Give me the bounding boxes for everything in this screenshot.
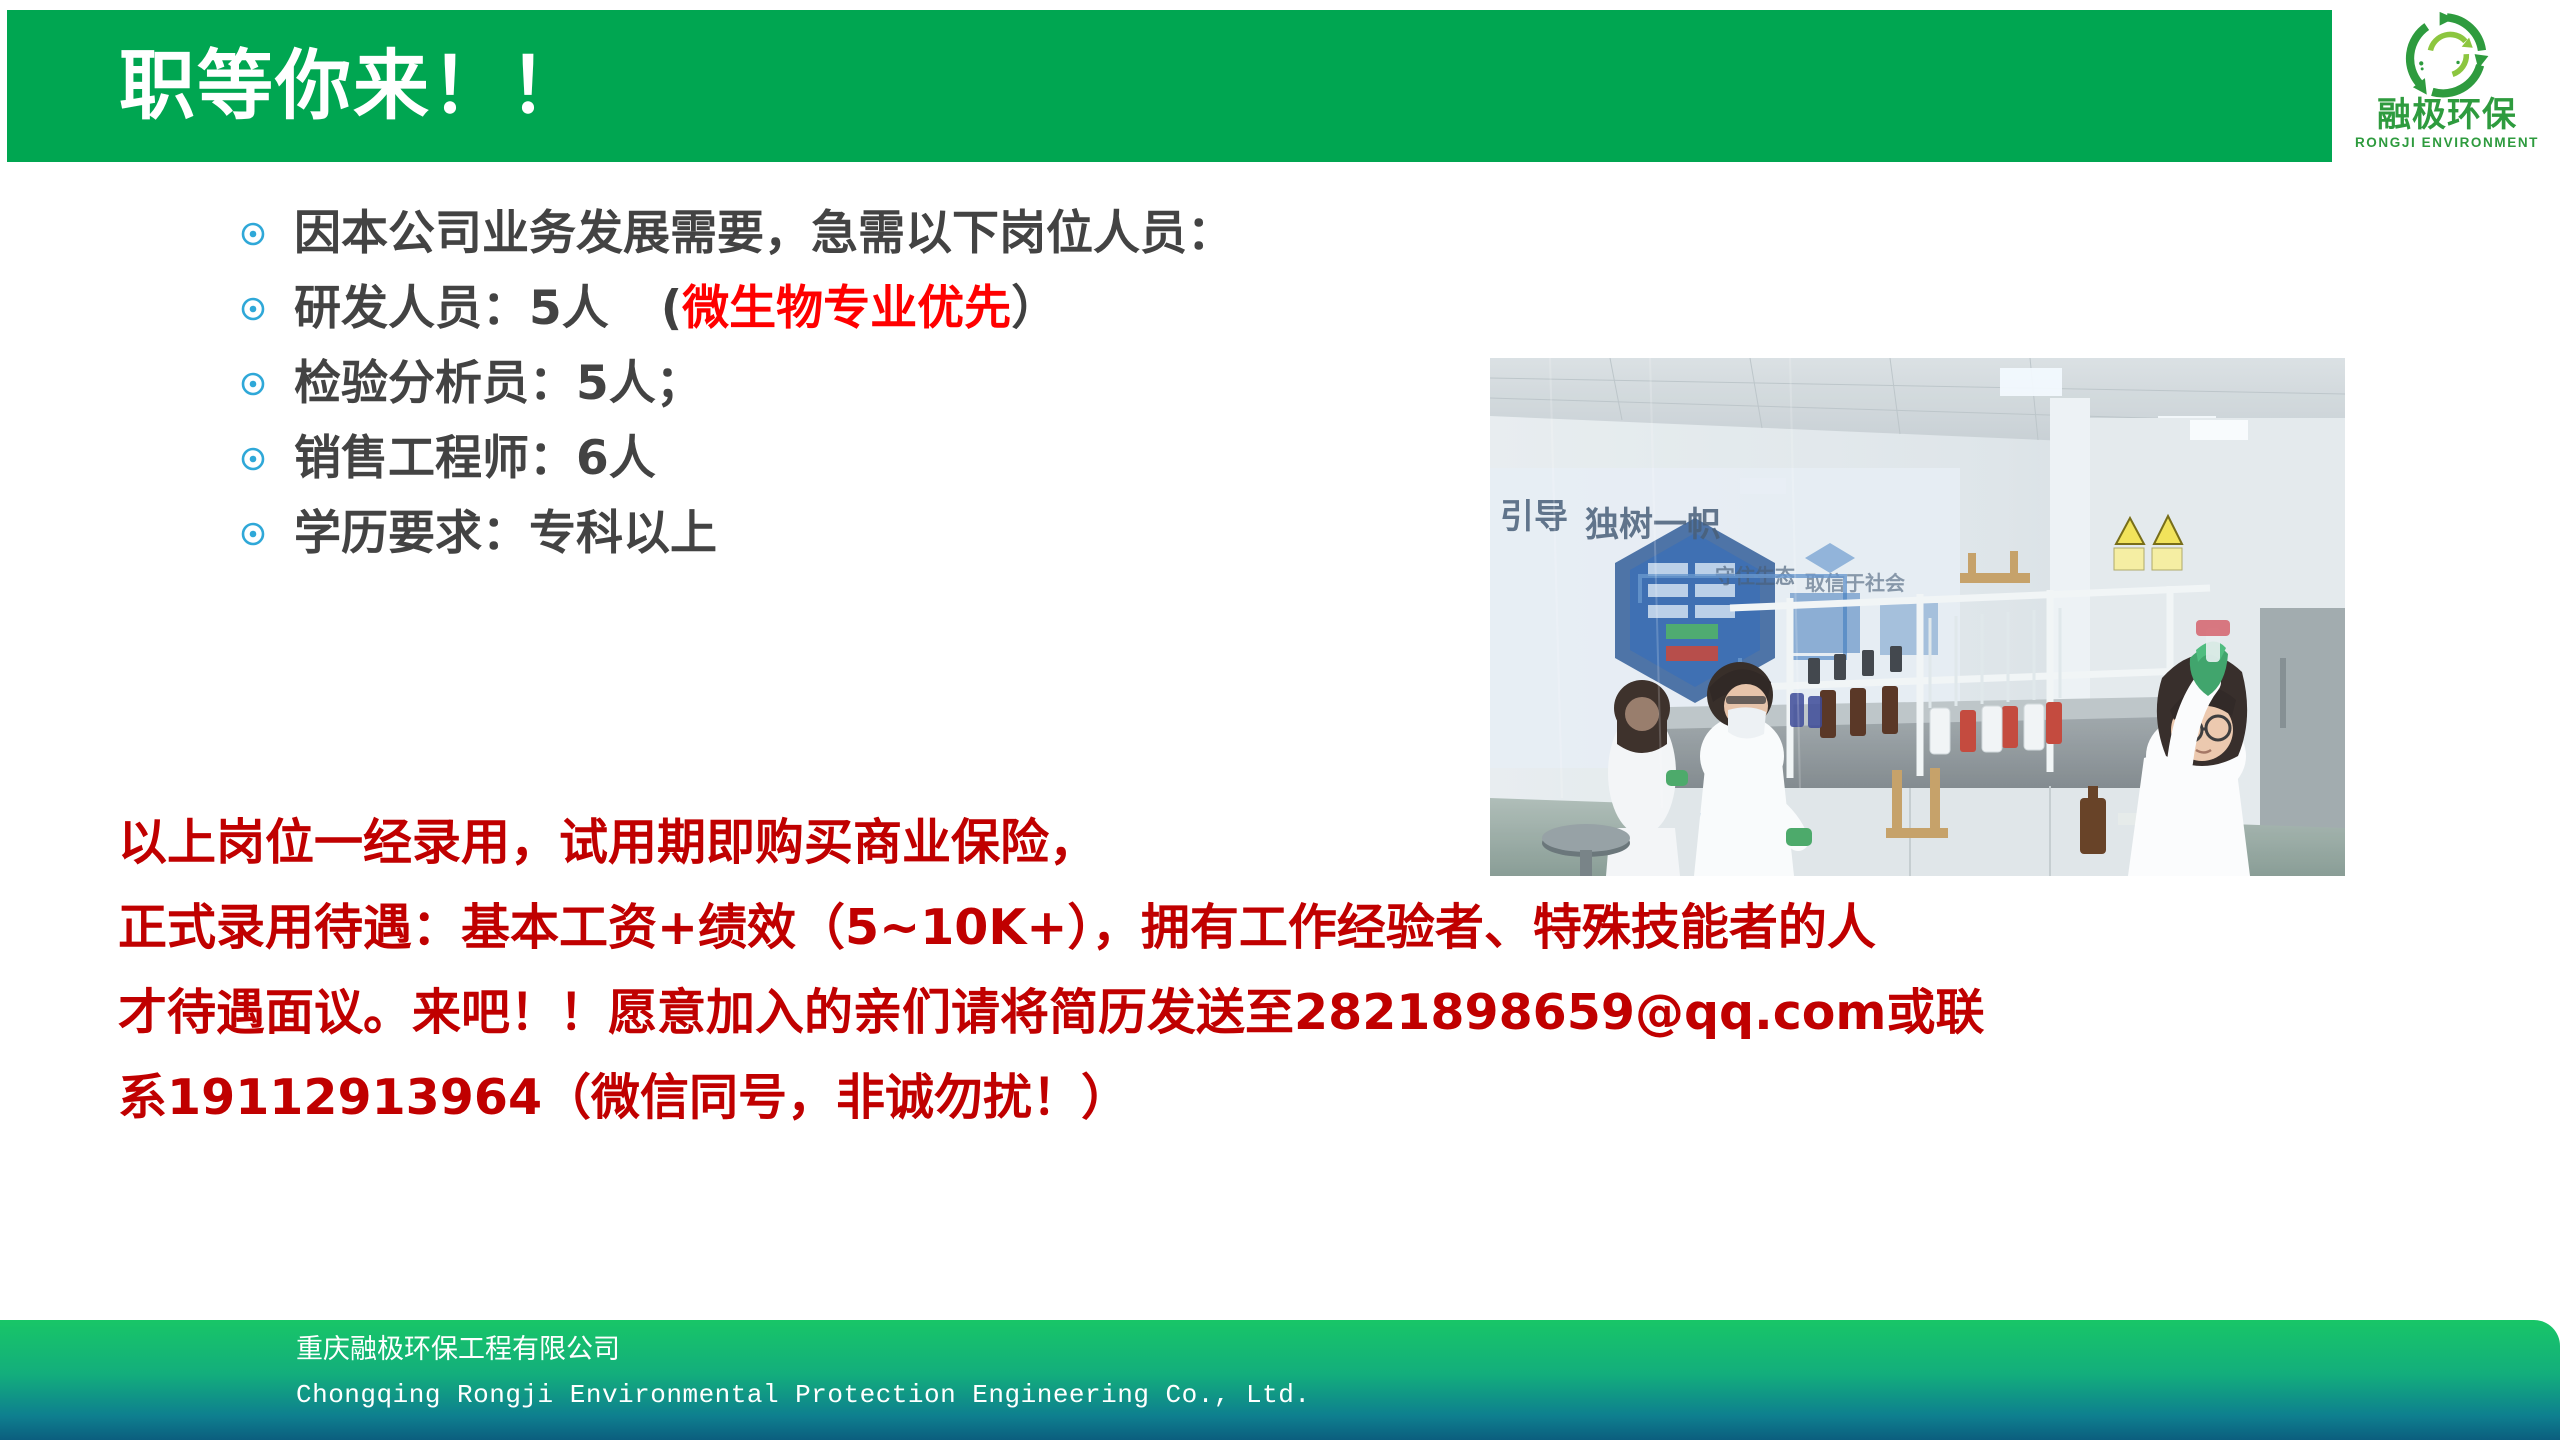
recycle-circle-logo-icon [2401,10,2493,102]
list-item-label: 研发人员：5人(微生物专业优先） [294,285,1058,332]
page-title: 职等你来！！ [119,48,587,124]
title-banner: 职等你来！！ [7,10,2332,162]
list-item: 检验分析员：5人； [240,346,1500,420]
list-item-label: 检验分析员：5人； [294,360,703,407]
circled-dot-bullet-icon [240,221,266,247]
notice-line: 系19112913964（微信同号，非诚勿扰！） [118,1055,2458,1140]
slide-canvas: 职等你来！！ [0,0,2560,1440]
circled-dot-bullet-icon [240,446,266,472]
company-logo: 融极环保 RONGJI ENVIRONMENT [2334,4,2560,156]
notice-line: 正式录用待遇：基本工资+绩效（5~10K+），拥有工作经验者、特殊技能者的人 [118,885,2458,970]
open-paren: ( [661,281,682,336]
job-title-rd: 研发人员：5人 [294,281,609,336]
list-item: 学历要求：专科以上 [240,496,1500,570]
footer-bar: 重庆融极环保工程有限公司 Chongqing Rongji Environmen… [0,1320,2560,1440]
list-item-label: 因本公司业务发展需要，急需以下岗位人员： [294,210,1234,257]
circled-dot-bullet-icon [240,296,266,322]
list-item-label: 销售工程师：6人 [294,435,656,482]
preferred-major-note: 微生物专业优先 [682,281,1011,336]
footer-company-en: Chongqing Rongji Environmental Protectio… [296,1382,1310,1408]
recruitment-notice: 以上岗位一经录用，试用期即购买商业保险， 正式录用待遇：基本工资+绩效（5~10… [118,800,2458,1140]
close-paren: ） [1011,281,1058,336]
job-list: 因本公司业务发展需要，急需以下岗位人员： 研发人员：5人(微生物专业优先） 检验… [240,196,1500,570]
logo-chinese-name: 融极环保 [2377,98,2517,132]
list-item-label: 学历要求：专科以上 [294,510,717,557]
list-item: 因本公司业务发展需要，急需以下岗位人员： [240,196,1500,270]
logo-english-name: RONGJI ENVIRONMENT [2355,136,2539,150]
notice-line: 才待遇面议。来吧！！愿意加入的亲们请将简历发送至2821898659@qq.co… [118,970,2458,1055]
footer-company-cn: 重庆融极环保工程有限公司 [296,1336,620,1363]
notice-line: 以上岗位一经录用，试用期即购买商业保险， [118,800,2458,885]
circled-dot-bullet-icon [240,371,266,397]
circled-dot-bullet-icon [240,521,266,547]
list-item: 销售工程师：6人 [240,421,1500,495]
list-item: 研发人员：5人(微生物专业优先） [240,271,1500,345]
lab-photo: 引导 独树一帜 守住生态 取信于社会 [1490,358,2345,876]
